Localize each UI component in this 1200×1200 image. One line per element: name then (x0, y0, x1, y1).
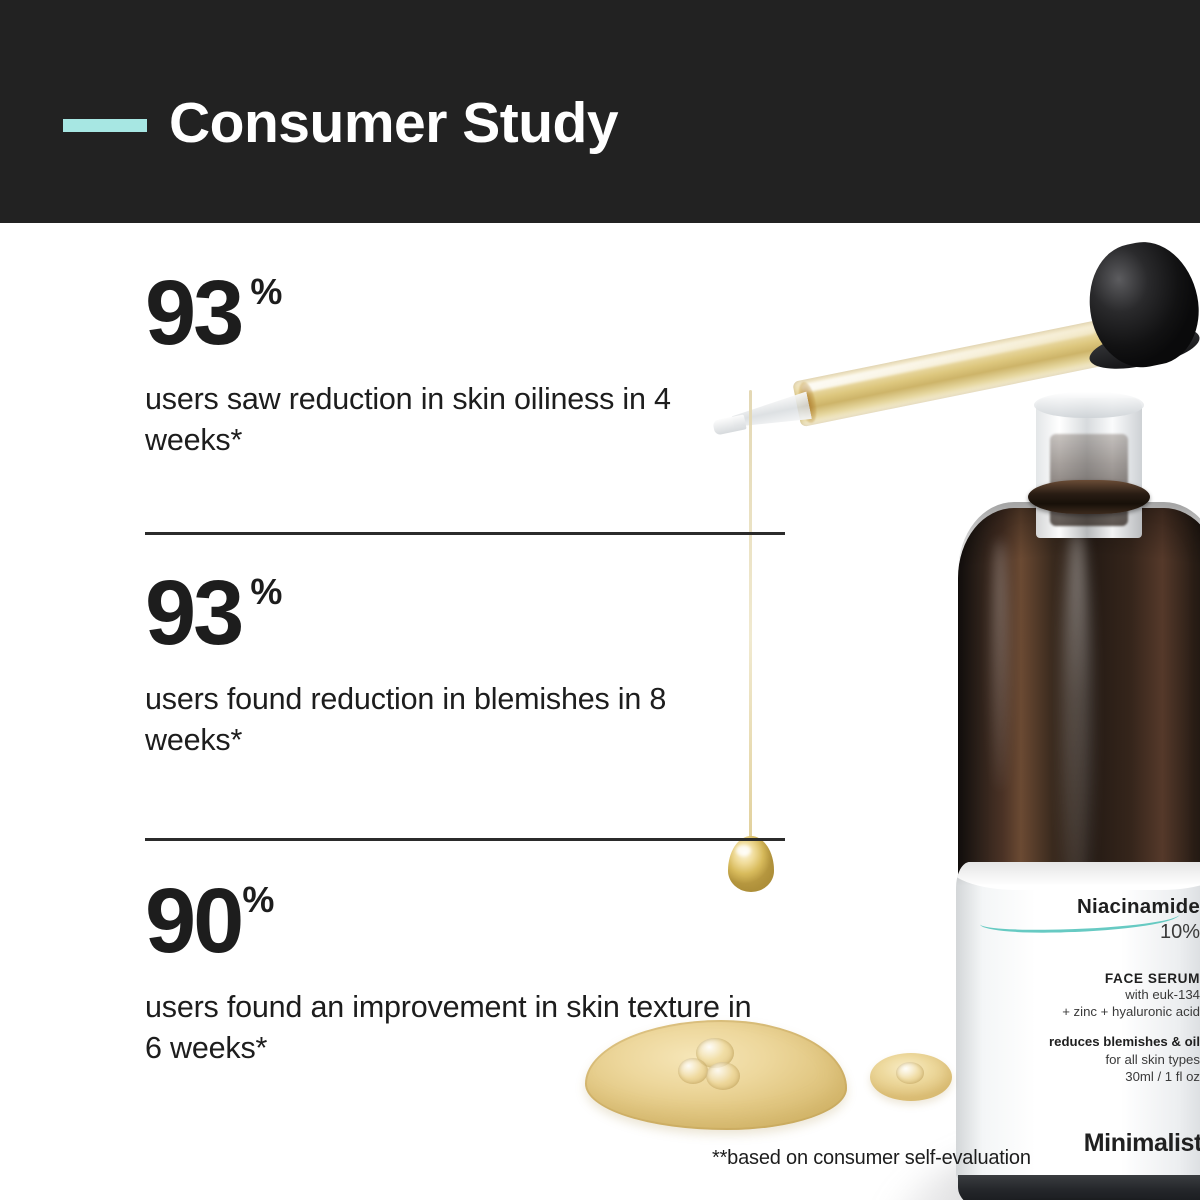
stat-value-row: 93 % (145, 570, 765, 657)
serum-bottle: Niacinamide 10% FACE SERUM with euk-134 … (958, 380, 1200, 1200)
bottle-base (958, 1175, 1200, 1200)
label-product-type: FACE SERUM (974, 971, 1200, 986)
serum-droplet-highlight (736, 845, 751, 856)
accent-dash-icon (63, 119, 147, 132)
stat-block: 93 % users saw reduction in skin oilines… (145, 270, 765, 461)
label-volume: 30ml / 1 fl oz (974, 1068, 1200, 1085)
label-active-ingredient: with euk-134 (974, 986, 1200, 1003)
stat-value-row: 90 % (145, 878, 765, 965)
product-label: Niacinamide 10% FACE SERUM with euk-134 … (956, 862, 1200, 1184)
serum-bubble (896, 1062, 924, 1084)
label-benefit: reduces blemishes & oil (974, 1033, 1200, 1050)
stat-percent-symbol: % (250, 274, 282, 310)
brand-name: Minimalist (1084, 1129, 1200, 1158)
stat-description: users found an improvement in skin textu… (145, 987, 765, 1068)
stat-number: 90 (145, 878, 241, 965)
bottle-collar-ring (1028, 480, 1150, 514)
bottle-highlight-secondary (992, 540, 1008, 790)
header-content: Consumer Study (63, 95, 618, 152)
page-title: Consumer Study (169, 95, 618, 152)
stat-divider (145, 838, 785, 841)
stat-number: 93 (145, 570, 241, 657)
stat-block: 90 % users found an improvement in skin … (145, 878, 765, 1069)
stat-description: users saw reduction in skin oiliness in … (145, 379, 765, 460)
stat-value-row: 93 % (145, 270, 765, 357)
stat-percent-symbol: % (250, 574, 282, 610)
stat-block: 93 % users found reduction in blemishes … (145, 570, 765, 761)
label-ingredients: + zinc + hyaluronic acid (974, 1003, 1200, 1020)
label-skin-types: for all skin types (974, 1051, 1200, 1068)
stat-percent-symbol: % (242, 882, 274, 918)
stat-description: users found reduction in blemishes in 8 … (145, 679, 765, 760)
footnote-disclaimer: **based on consumer self-evaluation (712, 1147, 1031, 1170)
infographic-page: Consumer Study Niacinamide 10% FACE (0, 0, 1200, 1200)
header-bar: Consumer Study (0, 0, 1200, 223)
stat-divider (145, 532, 785, 535)
stat-number: 93 (145, 270, 241, 357)
